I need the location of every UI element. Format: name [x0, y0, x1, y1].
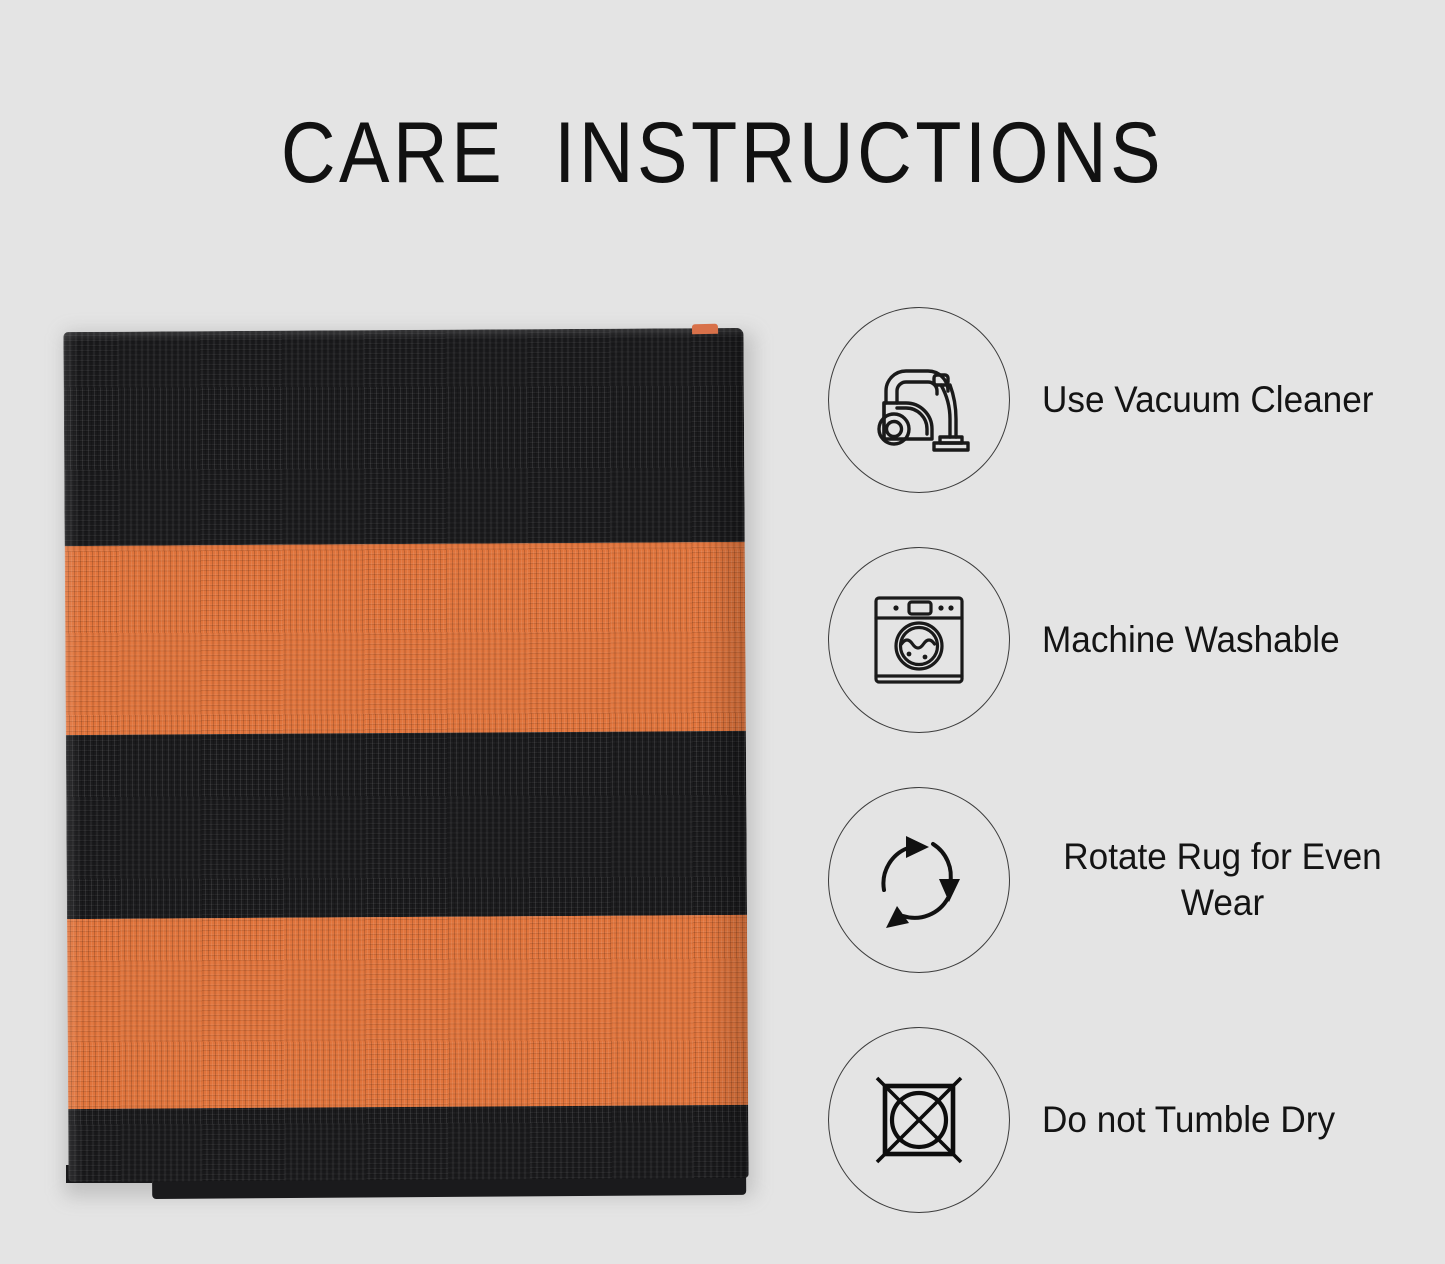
- rug-surface: [63, 328, 748, 1182]
- page-title: CARE INSTRUCTIONS: [87, 105, 1359, 201]
- care-instructions-page: CARE INSTRUCTIONS: [0, 0, 1445, 1264]
- instruction-label-no-tumble-dry: Do not Tumble Dry: [1042, 1097, 1413, 1143]
- no-tumble-dry-icon: [828, 1027, 1010, 1213]
- instruction-row-no-tumble-dry: Do not Tumble Dry: [810, 1020, 1440, 1220]
- vacuum-cleaner-icon: [828, 307, 1010, 493]
- instruction-label-rotate: Rotate Rug for Even Wear: [1042, 834, 1403, 926]
- rug-underlayer-sliver: [692, 324, 718, 335]
- instruction-label-machine-wash: Machine Washable: [1042, 617, 1413, 663]
- rug-stripe-orange-2: [67, 915, 748, 1109]
- instruction-row-machine-wash: Machine Washable: [810, 540, 1440, 740]
- rug-stripe-orange-1: [65, 542, 746, 735]
- rug-stripe-black-3: [68, 1105, 748, 1182]
- washing-machine-icon: [828, 547, 1010, 733]
- instruction-list: Use Vacuum Cleaner: [810, 290, 1440, 1240]
- rug-stripe-black-1: [63, 328, 744, 546]
- rotate-arrows-icon: [828, 787, 1010, 973]
- instruction-label-vacuum: Use Vacuum Cleaner: [1042, 377, 1413, 423]
- instruction-row-vacuum: Use Vacuum Cleaner: [810, 300, 1440, 500]
- rug-stripe-black-2: [66, 731, 747, 919]
- product-image-rug: [40, 310, 780, 1220]
- instruction-row-rotate: Rotate Rug for Even Wear: [810, 780, 1440, 980]
